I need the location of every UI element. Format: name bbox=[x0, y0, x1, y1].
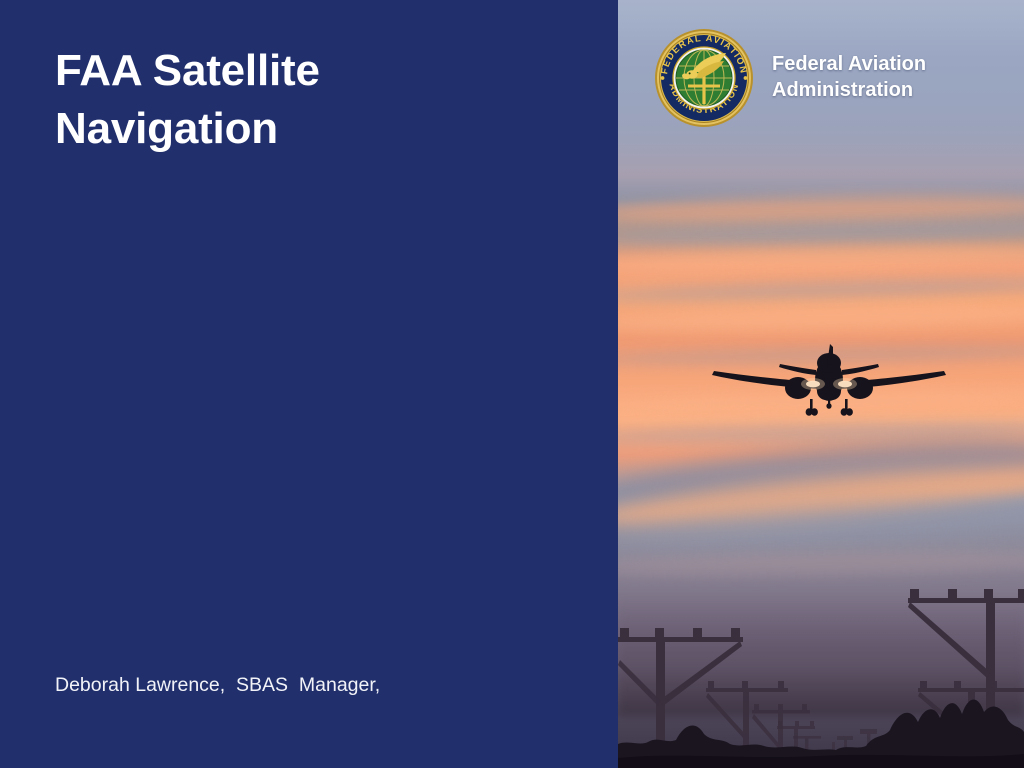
faa-seal-icon: FEDERAL AVIATION ADMINISTRATION bbox=[654, 28, 754, 128]
brand-name-line-2: Administration bbox=[772, 78, 926, 104]
presentation-slide: FAA Satellite Navigation Deborah Lawrenc… bbox=[0, 0, 1024, 768]
byline-block: Deborah Lawrence, SBAS Manager, Federal … bbox=[55, 585, 595, 768]
navy-title-panel: FAA Satellite Navigation Deborah Lawrenc… bbox=[0, 0, 618, 768]
byline-presenter: Deborah Lawrence, SBAS Manager, bbox=[55, 665, 595, 705]
page-title-line-1: FAA Satellite bbox=[55, 42, 575, 100]
faa-brand-header: FEDERAL AVIATION ADMINISTRATION bbox=[654, 28, 926, 128]
brand-name-line-1: Federal Aviation bbox=[772, 52, 926, 78]
treeline-silhouette bbox=[618, 648, 1024, 768]
brand-name: Federal Aviation Administration bbox=[772, 52, 926, 103]
page-title-line-2: Navigation bbox=[55, 100, 575, 158]
page-title: FAA Satellite Navigation bbox=[55, 42, 575, 158]
